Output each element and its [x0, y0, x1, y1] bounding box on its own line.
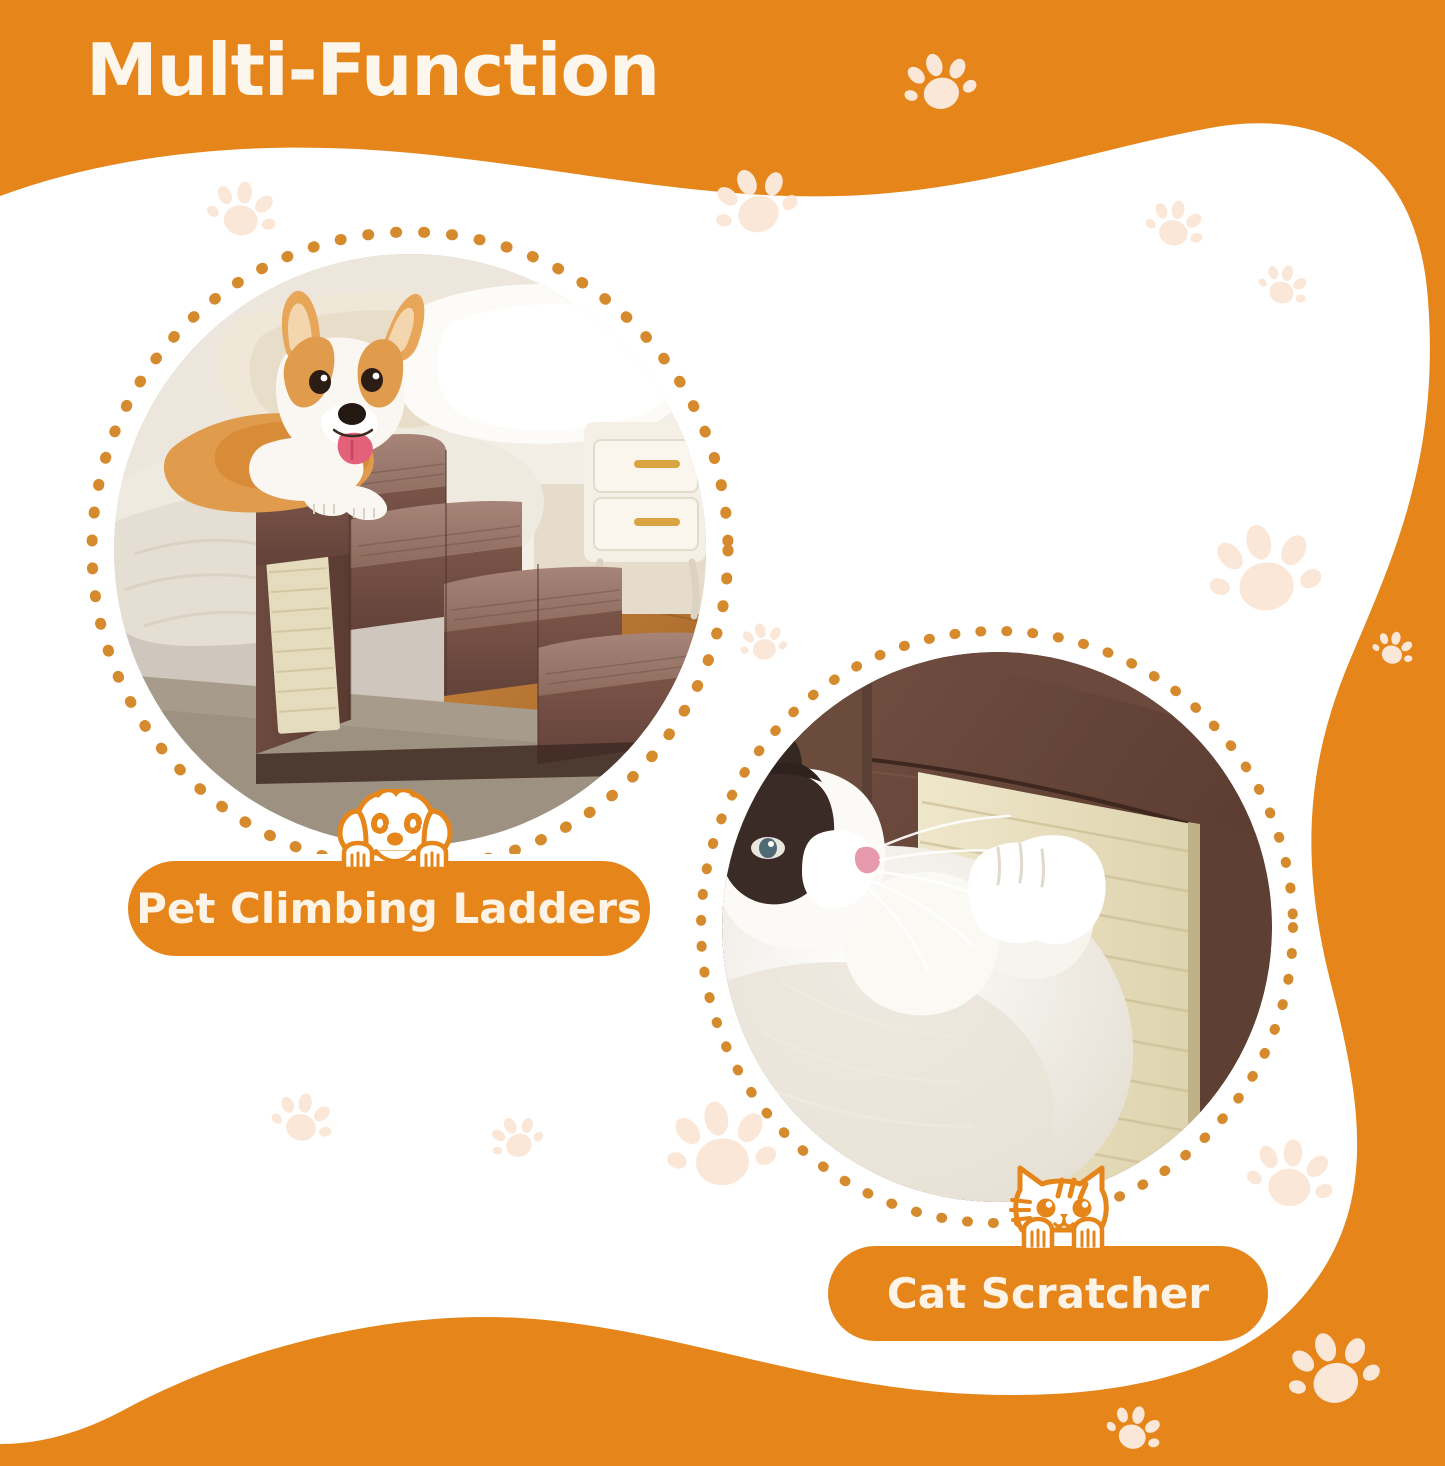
page-title: Multi-Function — [86, 28, 659, 112]
infographic-canvas: Multi-Function — [0, 0, 1445, 1445]
feature-label-cat-scratcher[interactable]: Cat Scratcher — [828, 1246, 1268, 1341]
feature-photo-cat-scratcher — [672, 602, 1322, 1252]
feature-label-text: Pet Climbing Ladders — [136, 884, 642, 933]
cat-peeking-icon — [1008, 1156, 1118, 1252]
feature-label-pet-climbing-ladders[interactable]: Pet Climbing Ladders — [128, 861, 650, 956]
feature-label-text: Cat Scratcher — [887, 1269, 1209, 1318]
photo-dog-on-bed-with-stairs — [114, 254, 706, 846]
dog-peeking-icon — [334, 789, 456, 871]
photo-cat-scratching-sisal — [722, 652, 1272, 1202]
